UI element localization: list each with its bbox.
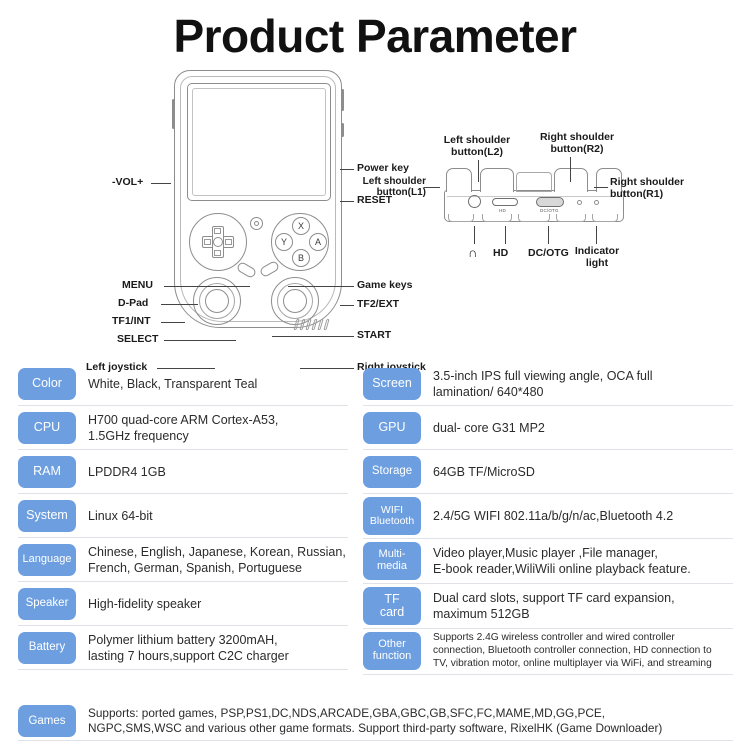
dpad xyxy=(202,226,234,258)
spec-value-battery: Polymer lithium battery 3200mAH, lasting… xyxy=(76,632,348,664)
spec-row-tf-card: TF card Dual card slots, support TF card… xyxy=(363,584,733,629)
top-bottom-edge xyxy=(448,214,620,222)
label-vol: -VOL+ xyxy=(112,177,143,189)
action-buttons-ring: X Y A B xyxy=(271,213,329,271)
spec-value-games: Supports: ported games, PSP,PS1,DC,NDS,A… xyxy=(76,706,733,736)
label-indicator-light: Indicator light xyxy=(568,246,626,270)
dc-port-caption: DC/OTG xyxy=(540,208,559,213)
hd-port xyxy=(492,198,518,206)
spec-label-wifi-bluetooth: WIFI Bluetooth xyxy=(363,497,421,535)
leader-game-keys xyxy=(288,286,354,287)
label-hd: HD xyxy=(493,248,508,260)
leader-start xyxy=(272,336,354,337)
leader-menu xyxy=(164,286,250,287)
spec-row-speaker: Speaker High-fidelity speaker xyxy=(18,582,348,626)
device-front-view: X Y A B xyxy=(174,70,342,328)
volume-rocker xyxy=(172,99,175,129)
leader-r2 xyxy=(570,157,571,182)
leader-dc-otg xyxy=(548,226,549,244)
spec-value-screen: 3.5-inch IPS full viewing angle, OCA ful… xyxy=(421,368,733,400)
spec-row-color: Color White, Black, Transparent Teal xyxy=(18,362,348,406)
label-right-shoulder-r1: Right shoulder button(R1) xyxy=(610,177,684,201)
spec-column-right: Screen 3.5-inch IPS full viewing angle, … xyxy=(363,362,733,675)
spec-label-language: Language xyxy=(18,544,76,576)
power-button xyxy=(341,89,344,111)
leader-l1-top xyxy=(424,187,440,188)
button-a: A xyxy=(309,233,327,251)
spec-label-screen: Screen xyxy=(363,368,421,400)
dpad-up-icon xyxy=(214,228,221,234)
spec-label-storage: Storage xyxy=(363,456,421,488)
leader-vol xyxy=(151,183,171,184)
spec-row-wifi-bluetooth: WIFI Bluetooth 2.4/5G WIFI 802.11a/b/g/n… xyxy=(363,494,733,539)
leader-dpad xyxy=(161,304,198,305)
leader-indicator xyxy=(596,226,597,244)
leader-power-key xyxy=(340,169,354,170)
spec-value-language: Chinese, English, Japanese, Korean, Russ… xyxy=(76,544,348,576)
menu-icon xyxy=(254,221,259,226)
spec-label-multimedia: Multi- media xyxy=(363,542,421,580)
leader-l2 xyxy=(478,160,479,182)
spec-value-wifi-bluetooth: 2.4/5G WIFI 802.11a/b/g/n/ac,Bluetooth 4… xyxy=(421,508,733,524)
page-title: Product Parameter xyxy=(0,0,750,60)
shoulder-r2 xyxy=(554,168,588,192)
leader-reset xyxy=(340,201,354,202)
spec-label-cpu: CPU xyxy=(18,412,76,444)
hd-port-caption: HD xyxy=(499,208,506,213)
spec-row-ram: RAM LPDDR4 1GB xyxy=(18,450,348,494)
reset-button xyxy=(341,123,344,137)
spec-value-cpu: H700 quad-core ARM Cortex-A53, 1.5GHz fr… xyxy=(76,412,348,444)
spec-label-color: Color xyxy=(18,368,76,400)
spec-value-speaker: High-fidelity speaker xyxy=(76,596,348,612)
spec-row-cpu: CPU H700 quad-core ARM Cortex-A53, 1.5GH… xyxy=(18,406,348,450)
leader-select xyxy=(164,340,236,341)
spec-value-ram: LPDDR4 1GB xyxy=(76,464,348,480)
label-left-shoulder-l2: Left shoulder button(L2) xyxy=(429,135,525,159)
spec-row-system: System Linux 64-bit xyxy=(18,494,348,538)
shoulder-l1 xyxy=(446,168,472,192)
label-menu: MENU xyxy=(122,280,153,292)
screen-bezel xyxy=(187,83,331,201)
dpad-right-icon xyxy=(225,239,232,245)
label-dpad: D-Pad xyxy=(118,298,148,310)
spec-value-color: White, Black, Transparent Teal xyxy=(76,376,348,392)
spec-value-system: Linux 64-bit xyxy=(76,508,348,524)
spec-row-screen: Screen 3.5-inch IPS full viewing angle, … xyxy=(363,362,733,406)
spec-row-battery: Battery Polymer lithium battery 3200mAH,… xyxy=(18,626,348,670)
headphone-icon: ∩ xyxy=(468,246,477,261)
spec-label-tf-card: TF card xyxy=(363,587,421,625)
device-top-view: HD DC/OTG xyxy=(444,168,624,223)
spec-value-other-function: Supports 2.4G wireless controller and wi… xyxy=(421,632,733,671)
spec-row-multimedia: Multi- media Video player,Music player ,… xyxy=(363,539,733,584)
label-power-key: Power key xyxy=(357,163,409,175)
screen-display xyxy=(192,88,326,196)
dc-otg-port xyxy=(536,197,564,207)
label-right-shoulder-r2: Right shoulder button(R2) xyxy=(527,132,627,156)
label-select: SELECT xyxy=(117,334,158,346)
dpad-left-icon xyxy=(204,239,211,245)
speaker-grille xyxy=(293,319,330,330)
button-y: Y xyxy=(275,233,293,251)
label-reset: RESET xyxy=(357,195,392,207)
spec-value-multimedia: Video player,Music player ,File manager,… xyxy=(421,545,733,577)
spec-row-storage: Storage 64GB TF/MicroSD xyxy=(363,450,733,494)
leader-headphone xyxy=(474,226,475,244)
leader-hd xyxy=(505,226,506,244)
spec-label-gpu: GPU xyxy=(363,412,421,444)
leader-tf1 xyxy=(161,322,185,323)
spec-label-ram: RAM xyxy=(18,456,76,488)
label-tf2: TF2/EXT xyxy=(357,299,399,311)
spec-label-battery: Battery xyxy=(18,632,76,664)
spec-value-tf-card: Dual card slots, support TF card expansi… xyxy=(421,590,733,622)
leader-tf2 xyxy=(340,305,354,306)
left-joystick xyxy=(193,277,241,325)
spec-row-gpu: GPU dual- core G31 MP2 xyxy=(363,406,733,450)
spec-row-games: Games Supports: ported games, PSP,PS1,DC… xyxy=(18,702,733,741)
dpad-down-icon xyxy=(214,250,221,256)
label-dc-otg: DC/OTG xyxy=(528,248,569,260)
spec-row-language: Language Chinese, English, Japanese, Kor… xyxy=(18,538,348,582)
shoulder-l2 xyxy=(480,168,514,192)
label-tf1: TF1/INT xyxy=(112,316,151,328)
spec-column-left: Color White, Black, Transparent Teal CPU… xyxy=(18,362,348,670)
spec-label-other-function: Other function xyxy=(363,632,421,670)
spec-value-storage: 64GB TF/MicroSD xyxy=(421,464,733,480)
spec-value-gpu: dual- core G31 MP2 xyxy=(421,420,733,436)
spec-label-system: System xyxy=(18,500,76,532)
leader-r1 xyxy=(594,187,608,188)
button-b: B xyxy=(292,249,310,267)
top-center-outline xyxy=(516,172,552,192)
spec-row-other-function: Other function Supports 2.4G wireless co… xyxy=(363,629,733,675)
spec-label-games: Games xyxy=(18,705,76,737)
button-x: X xyxy=(292,217,310,235)
spec-label-speaker: Speaker xyxy=(18,588,76,620)
label-start: START xyxy=(357,330,391,342)
product-diagram: X Y A B -VOL+ MENU D-Pad TF1/INT SELECT … xyxy=(0,60,750,345)
label-game-keys: Game keys xyxy=(357,280,412,292)
